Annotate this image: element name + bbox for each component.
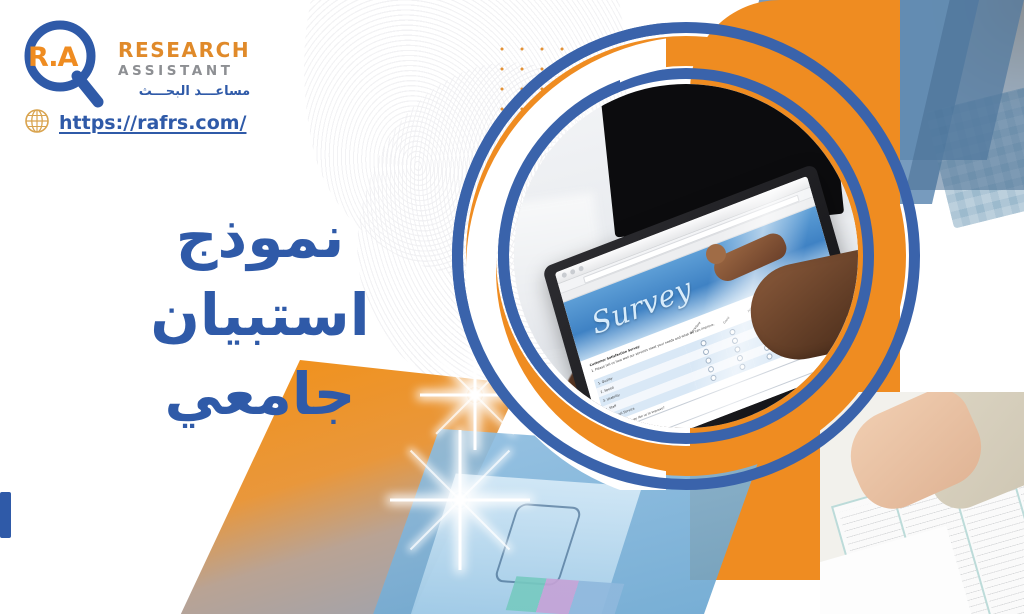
browser-dot-icon xyxy=(570,269,576,276)
keyboard-photo-hint xyxy=(925,83,1024,228)
brand-name-research: RESEARCH xyxy=(118,40,250,60)
planner-column xyxy=(954,463,1024,614)
logo-initials: R.A xyxy=(28,42,77,73)
brand-name-assistant: ASSISTANT xyxy=(118,65,250,79)
tablet-survey-photo: Survey Customer Satisfaction Survey 1. P… xyxy=(514,84,858,428)
color-chip-strip xyxy=(506,576,625,614)
website-link[interactable]: https://rafrs.com/ xyxy=(24,108,247,138)
blue-glass-highlight xyxy=(408,474,642,614)
website-url-text[interactable]: https://rafrs.com/ xyxy=(59,112,247,134)
glass-rounded-outline xyxy=(493,503,583,586)
desk-surface xyxy=(820,526,979,614)
headline-line-2: استبيان جامعي xyxy=(60,276,460,433)
planner-column xyxy=(897,480,996,614)
brand-wordmark: RESEARCH ASSISTANT مساعـــد البحـــث xyxy=(118,40,250,98)
browser-dot-icon xyxy=(578,265,584,272)
page-title: نموذج استبيان جامعي xyxy=(60,198,460,433)
radio-icon[interactable] xyxy=(710,374,717,382)
brand-logo[interactable]: R.A RESEARCH ASSISTANT مساعـــد البحـــث… xyxy=(14,18,274,134)
browser-dot-icon xyxy=(561,272,567,279)
blue-edge-tab xyxy=(0,492,11,538)
radio-icon[interactable] xyxy=(766,353,773,361)
globe-icon xyxy=(24,108,50,138)
radio-icon[interactable] xyxy=(739,363,746,371)
headline-line-1: نموذج xyxy=(60,198,460,276)
brand-name-arabic: مساعـــد البحـــث xyxy=(118,85,250,98)
planner-column xyxy=(839,496,938,614)
medallion: Survey Customer Satisfaction Survey 1. P… xyxy=(452,22,920,490)
promo-banner: Survey Customer Satisfaction Survey 1. P… xyxy=(0,0,1024,614)
blue-panel-front xyxy=(906,0,1024,190)
planner-column xyxy=(1012,447,1024,614)
warm-corner-glow xyxy=(904,0,1024,120)
